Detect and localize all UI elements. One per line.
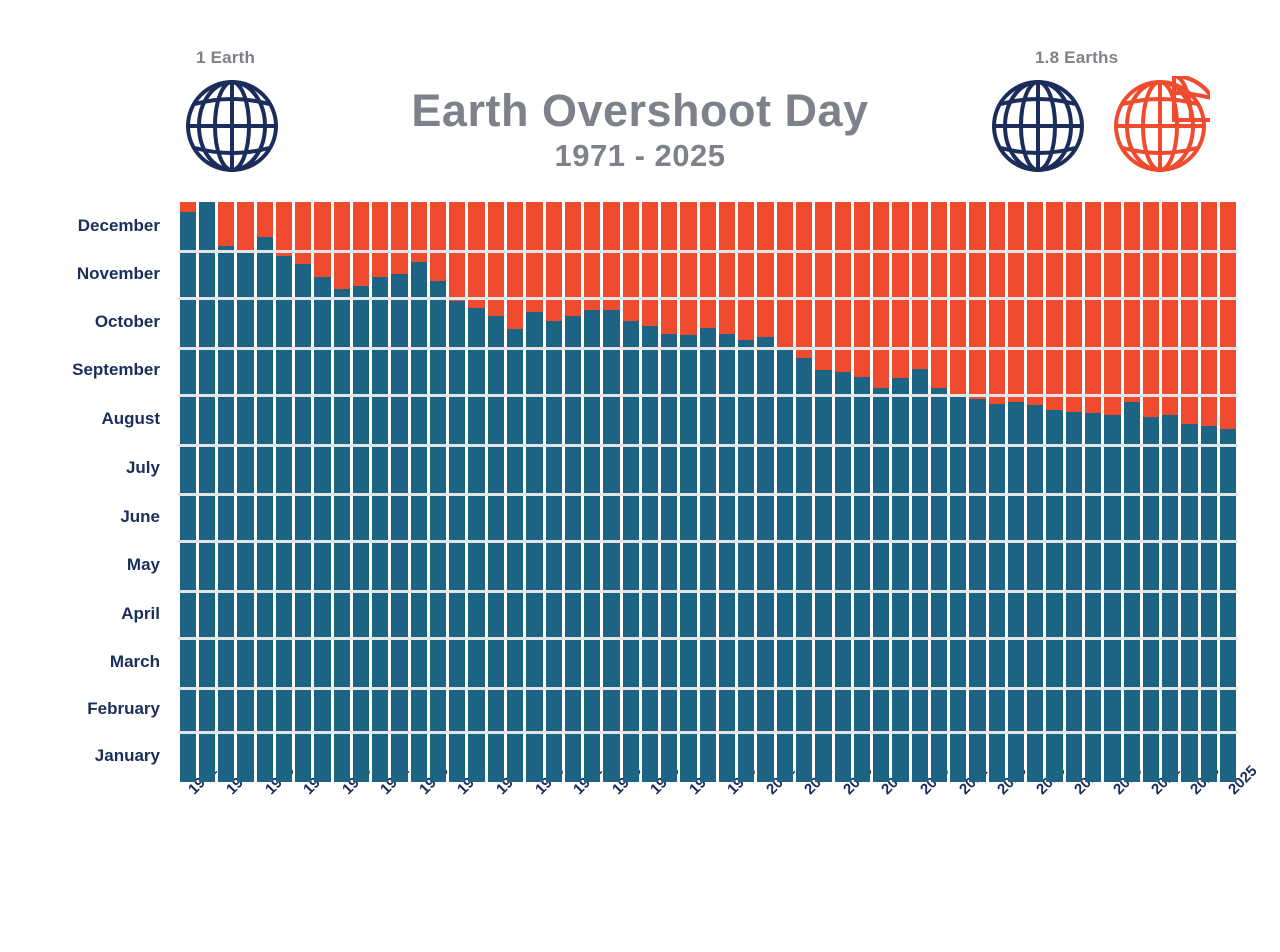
bar-column-2008	[891, 202, 910, 782]
bar-segment-budget	[738, 340, 754, 782]
bar-segment-budget	[931, 388, 947, 782]
bar-segment-budget	[757, 337, 773, 782]
bar-stack	[1124, 202, 1140, 782]
bar-stack	[854, 202, 870, 782]
bar-segment-budget	[1046, 410, 1062, 782]
bar-segment-budget	[1201, 426, 1217, 782]
bar-stack	[738, 202, 754, 782]
bar-stack	[411, 202, 427, 782]
bar-segment-budget	[1181, 424, 1197, 782]
bar-segment-overshoot	[854, 202, 870, 377]
bar-segment-overshoot	[680, 202, 696, 335]
bar-segment-budget	[334, 289, 350, 782]
bar-segment-budget	[1027, 405, 1043, 782]
bar-stack	[989, 202, 1005, 782]
bar-stack	[931, 202, 947, 782]
bar-column-2024	[1199, 202, 1218, 782]
bar-segment-overshoot	[372, 202, 388, 277]
bar-stack	[468, 202, 484, 782]
bar-stack	[295, 202, 311, 782]
bar-segment-overshoot	[719, 202, 735, 334]
bar-stack	[565, 202, 581, 782]
bar-segment-budget	[1143, 417, 1159, 782]
bar-segment-overshoot	[449, 202, 465, 301]
bar-column-2012	[968, 202, 987, 782]
bar-series	[178, 202, 1238, 782]
bar-segment-overshoot	[1085, 202, 1101, 413]
y-tick-label-june: June	[120, 507, 160, 527]
bar-column-1981	[371, 202, 390, 782]
bar-segment-budget	[295, 264, 311, 782]
bar-segment-overshoot	[488, 202, 504, 316]
bar-stack	[1027, 202, 1043, 782]
bar-column-2010	[929, 202, 948, 782]
bar-stack	[603, 202, 619, 782]
bar-segment-budget	[1104, 415, 1120, 782]
bar-segment-overshoot	[700, 202, 716, 328]
bar-column-2001	[756, 202, 775, 782]
bar-segment-budget	[1220, 429, 1236, 782]
bar-segment-budget	[719, 334, 735, 782]
bar-stack	[449, 202, 465, 782]
bar-stack	[180, 202, 196, 782]
bar-stack	[815, 202, 831, 782]
bar-column-1986	[467, 202, 486, 782]
bar-column-1984	[428, 202, 447, 782]
bar-segment-overshoot	[334, 202, 350, 289]
bar-stack	[1085, 202, 1101, 782]
bar-stack	[757, 202, 773, 782]
bar-column-1988	[506, 202, 525, 782]
y-tick-label-january: January	[95, 746, 160, 766]
bar-segment-budget	[565, 316, 581, 782]
y-tick-label-october: October	[95, 312, 160, 332]
bar-stack	[642, 202, 658, 782]
bar-segment-overshoot	[180, 202, 196, 212]
bar-stack	[488, 202, 504, 782]
bar-stack	[1143, 202, 1159, 782]
bar-column-1971	[178, 202, 197, 782]
bar-column-2016	[1045, 202, 1064, 782]
y-tick-label-march: March	[110, 652, 160, 672]
bar-segment-budget	[969, 399, 985, 782]
bar-stack	[835, 202, 851, 782]
bar-column-1998	[698, 202, 717, 782]
bar-stack	[584, 202, 600, 782]
bar-segment-overshoot	[777, 202, 793, 348]
bar-column-2019	[1103, 202, 1122, 782]
bar-segment-overshoot	[1220, 202, 1236, 429]
bar-segment-budget	[199, 202, 215, 782]
bar-segment-overshoot	[969, 202, 985, 399]
bar-segment-budget	[623, 321, 639, 782]
bar-segment-budget	[218, 246, 234, 782]
y-tick-label-november: November	[77, 264, 160, 284]
bar-segment-budget	[661, 334, 677, 782]
bar-stack	[546, 202, 562, 782]
bar-segment-budget	[912, 369, 928, 782]
bar-stack	[507, 202, 523, 782]
bar-segment-budget	[1124, 402, 1140, 782]
bar-column-1996	[660, 202, 679, 782]
bar-column-1975	[255, 202, 274, 782]
bar-column-1976	[274, 202, 293, 782]
bar-segment-overshoot	[468, 202, 484, 308]
bar-segment-overshoot	[430, 202, 446, 281]
bar-column-1999	[717, 202, 736, 782]
bar-column-2025	[1218, 202, 1237, 782]
bar-segment-budget	[1008, 402, 1024, 782]
bar-stack	[276, 202, 292, 782]
bar-segment-overshoot	[1162, 202, 1178, 415]
bar-column-1994	[621, 202, 640, 782]
bar-column-2022	[1161, 202, 1180, 782]
y-tick-label-february: February	[87, 699, 160, 719]
bar-column-2020	[1122, 202, 1141, 782]
bar-segment-overshoot	[873, 202, 889, 388]
bar-segment-overshoot	[295, 202, 311, 264]
bar-stack	[623, 202, 639, 782]
bar-column-2014	[1006, 202, 1025, 782]
bar-column-2013	[987, 202, 1006, 782]
bar-segment-budget	[815, 370, 831, 782]
bar-segment-budget	[488, 316, 504, 782]
bar-column-1991	[563, 202, 582, 782]
bar-column-1997	[679, 202, 698, 782]
bar-stack	[430, 202, 446, 782]
bar-stack	[1066, 202, 1082, 782]
bar-column-1993	[602, 202, 621, 782]
bar-segment-budget	[180, 212, 196, 782]
bar-column-2021	[1141, 202, 1160, 782]
bar-stack	[700, 202, 716, 782]
bar-column-1990	[544, 202, 563, 782]
bar-stack	[950, 202, 966, 782]
bar-segment-overshoot	[989, 202, 1005, 404]
bar-stack	[1008, 202, 1024, 782]
y-tick-label-september: September	[72, 360, 160, 380]
y-tick-label-may: May	[127, 555, 160, 575]
bar-column-2023	[1180, 202, 1199, 782]
bar-segment-overshoot	[1008, 202, 1024, 402]
bar-segment-budget	[1162, 415, 1178, 782]
bar-stack	[218, 202, 234, 782]
bar-segment-overshoot	[276, 202, 292, 256]
y-tick-label-december: December	[78, 216, 160, 236]
bar-stack	[969, 202, 985, 782]
bar-segment-overshoot	[1201, 202, 1217, 426]
bar-stack	[1046, 202, 1062, 782]
bar-column-2011	[949, 202, 968, 782]
bar-segment-overshoot	[526, 202, 542, 312]
bar-segment-budget	[468, 308, 484, 782]
bar-column-2007	[872, 202, 891, 782]
bar-segment-overshoot	[661, 202, 677, 334]
bar-stack	[873, 202, 889, 782]
bar-segment-overshoot	[237, 202, 253, 251]
bar-segment-budget	[642, 326, 658, 782]
bar-segment-budget	[700, 328, 716, 782]
bar-segment-overshoot	[565, 202, 581, 316]
bar-segment-overshoot	[931, 202, 947, 388]
bar-segment-budget	[950, 396, 966, 782]
bar-segment-budget	[1066, 412, 1082, 782]
bar-stack	[1104, 202, 1120, 782]
bar-segment-budget	[430, 281, 446, 782]
bar-column-2018	[1083, 202, 1102, 782]
bar-segment-budget	[873, 388, 889, 782]
bar-segment-budget	[680, 335, 696, 782]
chart-container: DecemberNovemberOctoberSeptemberAugustJu…	[0, 0, 1280, 952]
bar-column-1983	[409, 202, 428, 782]
bar-segment-overshoot	[1046, 202, 1062, 410]
bar-column-1977	[294, 202, 313, 782]
bar-segment-budget	[449, 301, 465, 782]
bar-segment-overshoot	[1066, 202, 1082, 412]
y-tick-label-july: July	[126, 458, 160, 478]
bar-stack	[1201, 202, 1217, 782]
bar-stack	[526, 202, 542, 782]
bar-segment-overshoot	[1143, 202, 1159, 417]
bar-segment-budget	[892, 378, 908, 782]
bar-stack	[1162, 202, 1178, 782]
bar-segment-budget	[411, 262, 427, 782]
bar-stack	[391, 202, 407, 782]
bar-segment-overshoot	[218, 202, 234, 246]
bar-segment-overshoot	[257, 202, 273, 237]
bar-segment-overshoot	[411, 202, 427, 262]
bar-column-1992	[583, 202, 602, 782]
y-tick-label-august: August	[101, 409, 160, 429]
bar-segment-budget	[276, 256, 292, 782]
plot-area	[178, 202, 1238, 782]
bar-column-1987	[486, 202, 505, 782]
bar-column-1989	[525, 202, 544, 782]
bar-segment-overshoot	[912, 202, 928, 369]
bar-stack	[237, 202, 253, 782]
bar-stack	[257, 202, 273, 782]
bar-stack	[719, 202, 735, 782]
bar-stack	[372, 202, 388, 782]
bar-stack	[796, 202, 812, 782]
bar-segment-budget	[314, 277, 330, 782]
bar-segment-overshoot	[892, 202, 908, 378]
bar-segment-overshoot	[391, 202, 407, 274]
bar-stack	[334, 202, 350, 782]
bar-column-1972	[197, 202, 216, 782]
bar-segment-overshoot	[1181, 202, 1197, 424]
footer: EARTH OVERSHOOT DAY fodafo FOOTPRINT DAT…	[0, 862, 1280, 952]
bar-column-1974	[236, 202, 255, 782]
bar-stack	[912, 202, 928, 782]
bar-segment-overshoot	[796, 202, 812, 358]
bar-segment-overshoot	[1027, 202, 1043, 405]
bar-column-2009	[910, 202, 929, 782]
bar-stack	[1181, 202, 1197, 782]
bar-segment-overshoot	[314, 202, 330, 277]
bar-column-2005	[833, 202, 852, 782]
bar-column-2002	[775, 202, 794, 782]
bar-segment-overshoot	[642, 202, 658, 326]
bar-segment-overshoot	[950, 202, 966, 396]
bar-column-1980	[351, 202, 370, 782]
bar-column-1985	[448, 202, 467, 782]
bar-segment-budget	[391, 274, 407, 783]
bar-segment-overshoot	[353, 202, 369, 286]
bar-stack	[314, 202, 330, 782]
bar-segment-overshoot	[546, 202, 562, 321]
bar-column-1982	[390, 202, 409, 782]
bar-segment-budget	[372, 277, 388, 782]
bar-column-1978	[313, 202, 332, 782]
bar-segment-budget	[546, 321, 562, 782]
bar-segment-overshoot	[623, 202, 639, 321]
bar-column-2006	[852, 202, 871, 782]
bar-segment-budget	[353, 286, 369, 782]
bar-segment-budget	[603, 310, 619, 782]
bar-segment-budget	[526, 312, 542, 782]
bar-segment-overshoot	[507, 202, 523, 329]
bar-segment-budget	[584, 310, 600, 782]
bar-segment-budget	[854, 377, 870, 782]
bar-column-1973	[217, 202, 236, 782]
bar-segment-overshoot	[584, 202, 600, 310]
y-tick-label-april: April	[121, 604, 160, 624]
bar-segment-budget	[835, 372, 851, 782]
bar-segment-overshoot	[757, 202, 773, 337]
bar-segment-overshoot	[603, 202, 619, 310]
bar-segment-budget	[796, 358, 812, 782]
bar-segment-budget	[237, 251, 253, 782]
bar-segment-budget	[989, 404, 1005, 782]
bar-column-1979	[332, 202, 351, 782]
bar-segment-budget	[257, 237, 273, 782]
bar-column-2015	[1026, 202, 1045, 782]
bar-segment-budget	[777, 348, 793, 782]
y-axis: DecemberNovemberOctoberSeptemberAugustJu…	[0, 202, 170, 782]
bar-segment-overshoot	[738, 202, 754, 340]
x-axis: 1971197319751977197919811983198519871989…	[178, 786, 1238, 846]
bar-segment-overshoot	[835, 202, 851, 372]
bar-stack	[353, 202, 369, 782]
bar-segment-budget	[507, 329, 523, 782]
bar-segment-overshoot	[1104, 202, 1120, 415]
bar-stack	[199, 202, 215, 782]
bar-segment-budget	[1085, 413, 1101, 782]
bar-segment-overshoot	[1124, 202, 1140, 402]
bar-stack	[661, 202, 677, 782]
bar-column-1995	[640, 202, 659, 782]
bar-segment-overshoot	[815, 202, 831, 370]
bar-column-2000	[737, 202, 756, 782]
bar-stack	[892, 202, 908, 782]
bar-column-2017	[1064, 202, 1083, 782]
bar-stack	[777, 202, 793, 782]
bar-stack	[680, 202, 696, 782]
bar-stack	[1220, 202, 1236, 782]
bar-column-2003	[795, 202, 814, 782]
bar-column-2004	[814, 202, 833, 782]
